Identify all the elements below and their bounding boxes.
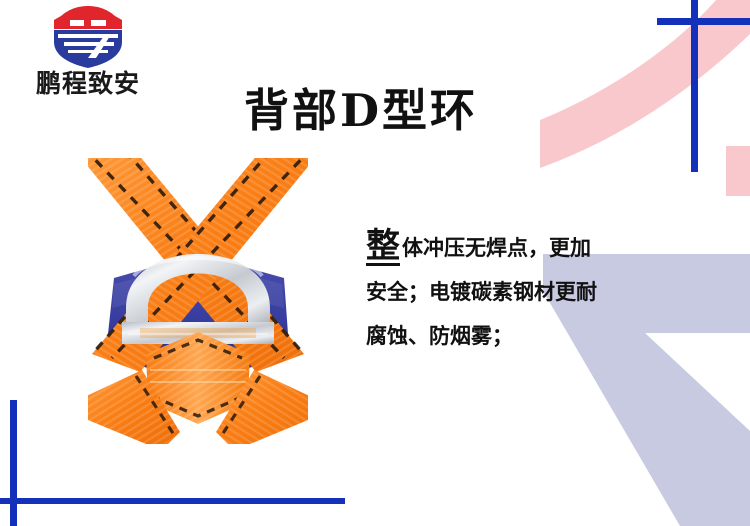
page-title: 背部D型环 (244, 88, 478, 133)
blue-vertical-rule-top-right (691, 0, 698, 172)
pink-rectangle-decoration (726, 146, 750, 196)
brand-logo: 鹏程致安 (18, 6, 158, 98)
pink-curved-band-decoration (540, 0, 750, 210)
product-description: 整体冲压无焊点，更加 安全；电镀碳素钢材更耐 腐蚀、防烟雾； (366, 226, 666, 358)
shield-logo-icon (18, 6, 158, 68)
product-photo (88, 158, 308, 444)
description-lead-character: 整 (366, 229, 400, 266)
brand-name: 鹏程致安 (18, 70, 158, 98)
blue-horizontal-rule-top-right (657, 18, 750, 25)
product-banner: 鹏程致安 背部D型环 (0, 0, 750, 526)
blue-horizontal-rule-bottom-left (0, 498, 345, 504)
description-line-1: 整体冲压无焊点，更加 (366, 226, 666, 270)
blue-vertical-rule-bottom-left (10, 400, 17, 526)
description-line-1-rest: 体冲压无焊点，更加 (402, 236, 591, 260)
description-line-3: 腐蚀、防烟雾； (366, 314, 666, 358)
description-line-2: 安全；电镀碳素钢材更耐 (366, 270, 666, 314)
